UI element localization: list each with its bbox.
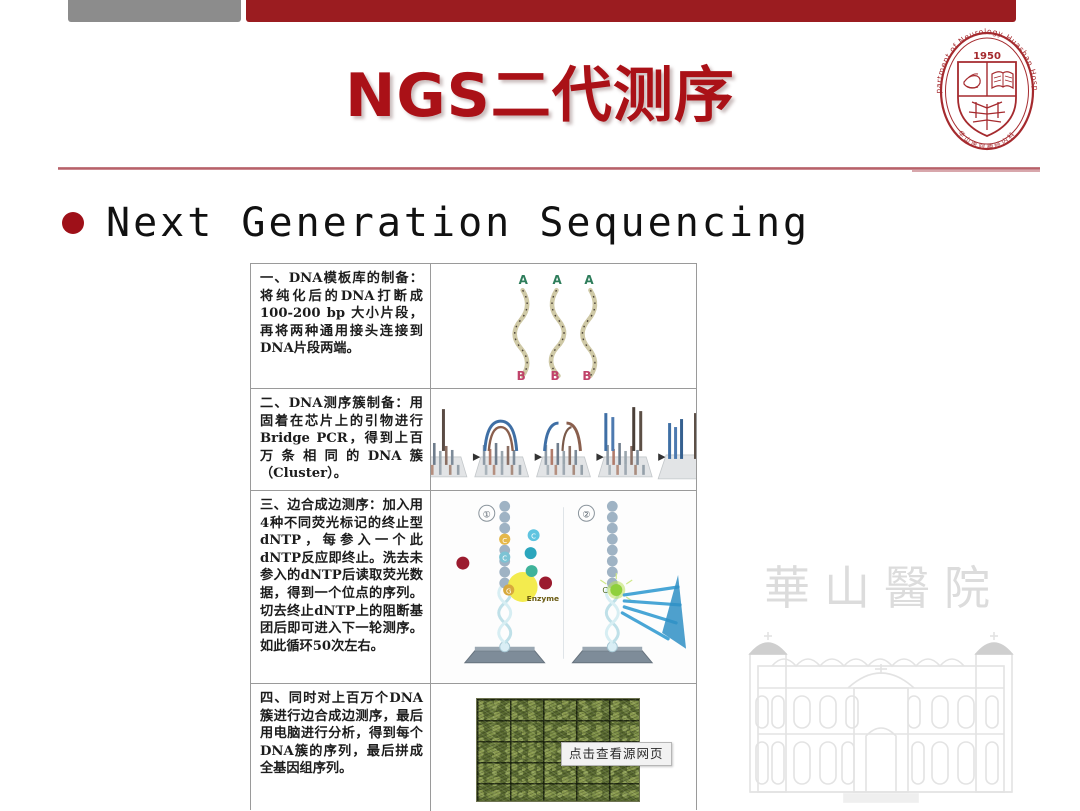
table-row: 二、DNA测序簇制备：用固着在芯片上的引物进行Bridge PCR，得到上百万条… (251, 389, 696, 491)
banner-red-bar (246, 0, 1016, 22)
watermark-text: 華山醫院 (764, 560, 1004, 616)
table-row: 三、边合成边测序：加入用4种不同荧光标记的终止型dNTP，每参入一个此dNTP反… (251, 491, 696, 684)
svg-text:B: B (551, 369, 560, 383)
svg-text:C: C (502, 555, 507, 563)
svg-text:B: B (517, 369, 526, 383)
source-page-tooltip[interactable]: 点击查看源网页 (561, 742, 672, 766)
svg-text:C: C (531, 533, 536, 541)
ngs-steps-table: 一、DNA模板库的制备：将纯化后的DNA打断成100-200 bp 大小片段，再… (250, 263, 697, 810)
bullet-text: Next Generation Sequencing (106, 198, 810, 248)
svg-text:A: A (584, 273, 594, 287)
table-row: 四、同时对上百万个DNA簇进行边合成边测序，最后用电脑进行分析，得到每个DNA簇… (251, 684, 696, 811)
step-3-figure: ① C (431, 491, 696, 683)
step-4-text: 四、同时对上百万个DNA簇进行边合成边测序，最后用电脑进行分析，得到每个DNA簇… (251, 684, 431, 811)
table-row: 一、DNA模板库的制备：将纯化后的DNA打断成100-200 bp 大小片段，再… (251, 264, 696, 389)
svg-text:B: B (582, 369, 591, 383)
title-divider-tail (912, 170, 1040, 172)
svg-text:C: C (602, 586, 608, 595)
svg-text:A: A (553, 273, 563, 287)
page-title: NGS二代测序 (0, 58, 1080, 134)
svg-text:①: ① (483, 510, 491, 520)
hospital-seal-logo: Department of Neurology Huashan Hospital… (928, 26, 1046, 156)
banner-gray-bar (68, 0, 241, 22)
top-banner (0, 0, 1080, 22)
step-2-text: 二、DNA测序簇制备：用固着在芯片上的引物进行Bridge PCR，得到上百万条… (251, 389, 431, 490)
svg-text:A: A (519, 273, 529, 287)
bullet-dot-icon (62, 212, 84, 234)
title-divider (58, 167, 1040, 170)
step-2-figure: ▸ ▸ ▸ (431, 389, 696, 490)
step-4-figure: 点击查看源网页 (431, 684, 696, 811)
svg-text:C: C (502, 537, 507, 545)
svg-text:G: G (506, 587, 511, 595)
svg-text:②: ② (582, 510, 590, 520)
bullet-row: Next Generation Sequencing (62, 198, 810, 248)
hospital-watermark: 華山醫院 (716, 556, 1046, 808)
hospital-building-illustration (736, 626, 1026, 806)
step-1-text: 一、DNA模板库的制备：将纯化后的DNA打断成100-200 bp 大小片段，再… (251, 264, 431, 388)
step-3-text: 三、边合成边测序：加入用4种不同荧光标记的终止型dNTP，每参入一个此dNTP反… (251, 491, 431, 683)
svg-text:华山医院神经内科: 华山医院神经内科 (956, 128, 1017, 151)
svg-text:1950: 1950 (973, 51, 1001, 62)
step-1-figure: A B A B A B (431, 264, 696, 388)
svg-text:Enzyme: Enzyme (527, 594, 559, 603)
